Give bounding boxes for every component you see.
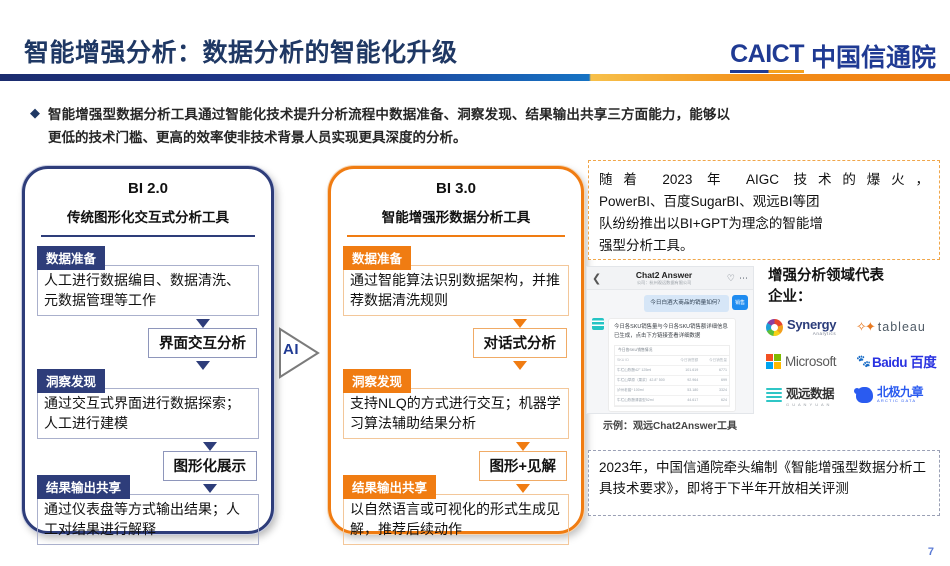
microsoft-squares-icon xyxy=(766,354,781,369)
synergy-name: Synergy xyxy=(787,319,836,331)
caict-logo: CAICT 中国信通院 xyxy=(730,38,936,74)
chat-cell-2-2: 3324 xyxy=(700,386,729,395)
bi30-body-data-prep: 通过智能算法识别数据架构，并推荐数据清洗规则 xyxy=(343,265,569,316)
chat-user-message: 今日白酒大商品的销量如何？ xyxy=(644,295,729,312)
bi20-section-2-tagrow: 洞察发现 xyxy=(25,369,271,388)
bi20-tag-data-prep: 数据准备 xyxy=(37,246,105,270)
synergy-icon xyxy=(766,319,783,336)
bi30-section-3-tagrow: 结果输出共享 xyxy=(331,475,581,494)
chat-cell-0-2: 6771 xyxy=(700,366,729,375)
arrow-down-icon xyxy=(196,319,210,328)
chat-cell-2-1: 53.180 xyxy=(665,386,700,395)
chat-cell-3-0: 牛栏山陈酿清香型52ml xyxy=(615,396,665,405)
bi30-tag-data-prep: 数据准备 xyxy=(343,246,411,270)
arrow-down-icon xyxy=(513,319,527,328)
chat-table-header-1: 今日销售额 xyxy=(665,356,700,365)
chat-cell-3-1: 44.617 xyxy=(665,396,700,405)
panel-bi30: BI 3.0 智能增强形数据分析工具 数据准备 通过智能算法识别数据架构，并推荐… xyxy=(328,166,584,534)
bi30-divider xyxy=(347,235,565,237)
table-row: 牛栏山草原（果浆）42.8° 500ml 92.964 699 xyxy=(615,376,729,386)
bi20-section-1-tagrow: 数据准备 xyxy=(25,246,271,265)
chat-user-row: 今日白酒大商品的销量如何？ 销售 xyxy=(592,295,748,312)
table-row: 牛栏山陈酿42° 125ml 101.619 6771 xyxy=(615,366,729,376)
chat-cell-2-0: 泸州老窖* 100ml xyxy=(615,386,665,395)
bi30-body-output: 以自然语言或可视化的形式生成见解，推荐后续动作 xyxy=(343,494,569,545)
bi30-section-2-tagrow: 洞察发现 xyxy=(331,369,581,388)
caict-abbr-text: CAICT xyxy=(730,40,804,73)
chat2answer-screenshot: ❮ Chat2 Answer 公司：杭州观远数据有限公司 ♡ ⋯ 今日白酒大商品… xyxy=(586,266,754,414)
chat-app-subtitle: 公司：杭州观远数据有限公司 xyxy=(605,281,723,285)
arrow-down-icon xyxy=(203,442,217,451)
bi30-tag-insight: 洞察发现 xyxy=(343,369,411,393)
bi30-section-1-tagrow: 数据准备 xyxy=(331,246,581,265)
tableau-name: tableau xyxy=(878,320,926,334)
tableau-sparkle-icon: ✧✦ xyxy=(856,322,874,332)
bi20-step-ui-analysis: 界面交互分析 xyxy=(148,328,257,358)
logos-heading: 增强分析领域代表 企业： xyxy=(768,266,944,308)
more-icon[interactable]: ⋯ xyxy=(739,273,748,284)
chat-table-header-row: SKU ID 今日销售额 今日销售量 xyxy=(615,356,729,366)
logos-heading-line-1: 增强分析领域代表 xyxy=(768,266,944,287)
bi20-body-output: 通过仪表盘等方式输出结果；人工对结果进行解释 xyxy=(37,494,259,545)
chat-header: ❮ Chat2 Answer 公司：杭州观远数据有限公司 ♡ ⋯ xyxy=(587,267,753,290)
arrow-down-icon xyxy=(516,442,530,451)
logo-baidu: 🐾 Baidu 百度 xyxy=(856,351,946,371)
chat-result-table: 今日各SKU销售情况 SKU ID 今日销售额 今日销售量 牛栏山陈酿42° 1… xyxy=(614,345,730,407)
bi20-body-data-prep: 人工进行数据编目、数据清洗、元数据管理等工作 xyxy=(37,265,259,316)
chat-side-button[interactable]: 销售 xyxy=(732,295,748,310)
note-aigc-line-2: PowerBI、百度SugarBI、观远BI等团 xyxy=(599,191,929,213)
logos-heading-line-2: 企业： xyxy=(768,287,944,308)
chat-app-title: Chat2 Answer xyxy=(605,271,723,280)
page-number: 7 xyxy=(928,546,934,558)
chat-cell-1-0: 牛栏山草原（果浆）42.8° 500ml xyxy=(615,376,665,385)
avatar xyxy=(592,318,604,330)
chat-screenshot-caption: 示例：观远Chat2Answer工具 xyxy=(586,417,754,432)
guanyuan-subtitle: G U A N Y U A N xyxy=(786,402,834,407)
bi30-step-conversational: 对话式分析 xyxy=(473,328,568,358)
bi30-step-1-row: 对话式分析 xyxy=(331,316,581,370)
chevron-left-icon[interactable]: ❮ xyxy=(592,272,601,285)
guanyuan-text-block: 观远数据 G U A N Y U A N xyxy=(786,383,834,407)
arctic-name: 北极九章 xyxy=(877,387,923,398)
bi30-subtitle: 智能增强形数据分析工具 xyxy=(331,206,581,226)
polar-bear-icon xyxy=(856,387,873,403)
logo-microsoft: Microsoft xyxy=(766,354,856,369)
note-aigc-line-1: 随着 2023 年 AIGC 技术的爆火， xyxy=(599,169,929,191)
chat-bot-message: 今日各SKU销售量与今日各SKU销售额详细信息已生成，点击下方链接查看详细数据 xyxy=(614,323,730,341)
chat-cell-0-0: 牛栏山陈酿42° 125ml xyxy=(615,366,665,375)
ai-arrow-label: AI xyxy=(283,341,299,358)
chat-cell-0-1: 101.619 xyxy=(665,366,700,375)
logo-grid: Synergy Analytics ✧✦ tableau Microsoft 🐾… xyxy=(766,310,946,412)
heart-icon[interactable]: ♡ xyxy=(727,273,735,284)
panel-bi20: BI 2.0 传统图形化交互式分析工具 数据准备 人工进行数据编目、数据清洗、元… xyxy=(22,166,274,534)
bi20-title: BI 2.0 xyxy=(25,180,271,197)
caict-chinese-text: 中国信通院 xyxy=(811,38,936,74)
chat-cell-1-2: 699 xyxy=(700,376,729,385)
bullet-diamond-icon: ◆ xyxy=(30,103,40,123)
microsoft-name: Microsoft xyxy=(785,354,836,369)
synergy-text-block: Synergy Analytics xyxy=(787,319,836,336)
chat-bot-row: 今日各SKU销售量与今日各SKU销售额详细信息已生成，点击下方链接查看详细数据 … xyxy=(592,318,748,412)
note-standard: 2023年，中国信通院牵头编制《智能增强型数据分析工具技术要求》，即将于下半年开… xyxy=(588,450,940,516)
note-aigc-line-4: 强型分析工具。 xyxy=(599,235,929,257)
chat-table-caption: 今日各SKU销售情况 xyxy=(615,346,729,356)
header-divider xyxy=(0,74,950,81)
logo-tableau: ✧✦ tableau xyxy=(856,320,946,334)
bi20-body-insight: 通过交互式界面进行数据探索；人工进行建模 xyxy=(37,388,259,439)
chat-table-header-2: 今日销售量 xyxy=(700,356,729,365)
bi20-step-1-row: 界面交互分析 xyxy=(25,316,271,370)
page-title: 智能增强分析：数据分析的智能化升级 xyxy=(24,33,458,69)
guanyuan-bars-icon xyxy=(766,388,782,402)
bi20-section-3-tagrow: 结果输出共享 xyxy=(25,475,271,494)
bi20-tag-output: 结果输出共享 xyxy=(37,475,130,499)
chat-message-list: 今日白酒大商品的销量如何？ 销售 今日各SKU销售量与今日各SKU销售额详细信息… xyxy=(587,290,753,412)
bi20-subtitle: 传统图形化交互式分析工具 xyxy=(25,206,271,226)
chat-title-block: Chat2 Answer 公司：杭州观远数据有限公司 xyxy=(605,271,723,285)
logo-synergy: Synergy Analytics xyxy=(766,319,856,336)
note-aigc-line-3: 队纷纷推出以BI+GPT为理念的智能增 xyxy=(599,213,929,235)
note-aigc: 随着 2023 年 AIGC 技术的爆火， PowerBI、百度SugarBI、… xyxy=(588,160,940,260)
chat-cell-3-2: 624 xyxy=(700,396,729,405)
arctic-text-block: 北极九章 ARCTIC DATA xyxy=(877,387,923,403)
intro-bullet-text: 智能增强型数据分析工具通过智能化技术提升分析流程中数据准备、洞察发现、结果输出共… xyxy=(48,103,730,149)
bi30-title: BI 3.0 xyxy=(331,180,581,197)
logo-arctic-data: 北极九章 ARCTIC DATA xyxy=(856,387,946,403)
bi20-divider xyxy=(41,235,255,237)
chat-bot-bubble: 今日各SKU销售量与今日各SKU销售额详细信息已生成，点击下方链接查看详细数据 … xyxy=(608,318,736,412)
logo-guanyuan: 观远数据 G U A N Y U A N xyxy=(766,383,856,407)
chat-table-header-0: SKU ID xyxy=(615,356,665,365)
chat-cell-1-1: 92.964 xyxy=(665,376,700,385)
baidu-paw-icon: 🐾 xyxy=(856,354,871,368)
guanyuan-name: 观远数据 xyxy=(786,383,834,402)
bi30-tag-output: 结果输出共享 xyxy=(343,475,436,499)
arctic-subtitle: ARCTIC DATA xyxy=(877,398,923,403)
intro-bullet: ◆ 智能增强型数据分析工具通过智能化技术提升分析流程中数据准备、洞察发现、结果输… xyxy=(30,103,730,149)
bi30-body-insight: 支持NLQ的方式进行交互；机器学习算法辅助结果分析 xyxy=(343,388,569,439)
table-row: 泸州老窖* 100ml 53.180 3324 xyxy=(615,386,729,396)
bi20-tag-insight: 洞察发现 xyxy=(37,369,105,393)
table-row: 牛栏山陈酿清香型52ml 44.617 624 xyxy=(615,396,729,406)
baidu-name: Baidu 百度 xyxy=(872,351,936,371)
